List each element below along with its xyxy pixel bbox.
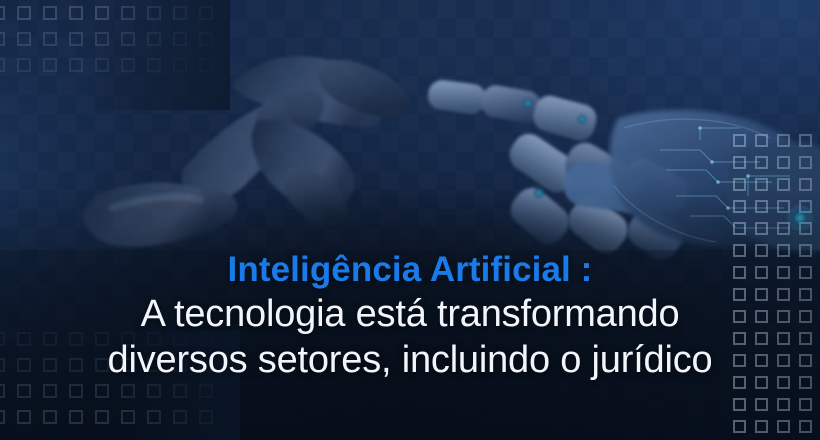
grid-square <box>733 156 746 169</box>
grid-square <box>799 156 812 169</box>
grid-square <box>777 178 790 191</box>
grid-square <box>733 200 746 213</box>
grid-square <box>733 398 746 411</box>
grid-square <box>777 354 790 367</box>
grid-square <box>799 222 812 235</box>
grid-square <box>799 420 812 433</box>
grid-square <box>733 222 746 235</box>
grid-square <box>777 332 790 345</box>
grid-square <box>799 354 812 367</box>
grid-square <box>755 222 768 235</box>
grid-square <box>755 178 768 191</box>
grid-square <box>799 398 812 411</box>
square-grid-right <box>733 134 820 440</box>
grid-square <box>755 332 768 345</box>
grid-square <box>777 398 790 411</box>
grid-square <box>733 354 746 367</box>
grid-square <box>777 376 790 389</box>
square-grid-bottom-left-fade <box>0 330 240 440</box>
grid-square <box>799 376 812 389</box>
grid-square <box>755 288 768 301</box>
grid-square <box>733 134 746 147</box>
grid-square <box>799 134 812 147</box>
grid-square <box>755 200 768 213</box>
grid-square <box>755 266 768 279</box>
grid-square <box>799 266 812 279</box>
grid-square <box>777 200 790 213</box>
grid-square <box>755 244 768 257</box>
grid-square <box>755 156 768 169</box>
grid-square <box>777 266 790 279</box>
grid-square <box>755 398 768 411</box>
grid-square <box>777 222 790 235</box>
grid-square <box>777 134 790 147</box>
grid-square <box>733 376 746 389</box>
grid-square <box>799 288 812 301</box>
grid-square <box>799 244 812 257</box>
grid-square <box>777 156 790 169</box>
grid-square <box>799 310 812 323</box>
grid-square <box>799 332 812 345</box>
grid-square <box>755 354 768 367</box>
grid-square <box>733 420 746 433</box>
grid-square <box>755 134 768 147</box>
grid-square <box>777 288 790 301</box>
grid-square <box>777 310 790 323</box>
grid-square <box>755 376 768 389</box>
grid-square <box>799 178 812 191</box>
grid-square <box>733 266 746 279</box>
grid-square <box>733 288 746 301</box>
grid-square <box>755 310 768 323</box>
grid-square <box>777 244 790 257</box>
grid-square <box>799 200 812 213</box>
grid-square <box>733 244 746 257</box>
grid-square <box>777 420 790 433</box>
grid-square <box>733 178 746 191</box>
ai-article-banner: Inteligência Artificial : A tecnologia e… <box>0 0 820 440</box>
grid-square <box>755 420 768 433</box>
grid-square <box>733 310 746 323</box>
grid-square <box>733 332 746 345</box>
square-grid-top-left-fade <box>0 0 230 110</box>
